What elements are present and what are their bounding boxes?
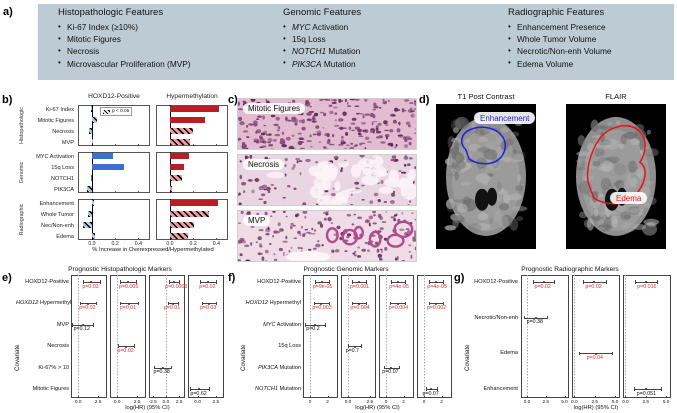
forest-ci-cap (134, 344, 135, 348)
b-row-label: PIK3CA (26, 187, 74, 193)
feature-list-item: Edema Volume (508, 58, 612, 70)
forest-ci-cap (612, 352, 613, 356)
forest-xticklabel: 5.0 (659, 399, 673, 404)
forest-row-label: Edema (466, 350, 518, 356)
forest-title: Prognostic Histopathologic Markers (14, 266, 226, 273)
b-group-label-2: Radiographic (19, 199, 25, 240)
mri-title-1: FLAIR (566, 92, 666, 101)
b-xtick (216, 238, 217, 240)
forest-ci-cap (635, 280, 636, 284)
forest-reference-line (574, 275, 575, 398)
b-bar (170, 164, 185, 170)
histology-label-0: Mitotic Figures (243, 103, 305, 114)
forest-xticklabel: 2.5 (91, 399, 105, 404)
mri-render (436, 104, 536, 249)
forest-xticklabel: 0.0 (341, 399, 355, 404)
forest-xticklabel: 0.0 (520, 399, 534, 404)
forest-ci-cap (554, 280, 555, 284)
forest-pvalue: p=0.003 (312, 305, 331, 311)
forest-xticklabel: 0.0 (191, 399, 205, 404)
forest-pvalue: p=0.7 (346, 348, 359, 354)
b-xtick (193, 144, 194, 146)
forest-subplot-1 (572, 275, 620, 398)
b-xtick (193, 191, 194, 193)
forest-reference-line (198, 275, 199, 398)
forest-ci-cap (100, 280, 101, 284)
b-bar (91, 175, 92, 181)
forest-pvalue: p=0.38 (527, 319, 543, 325)
forest-pvalue: p=0.62 (190, 391, 206, 397)
mri-roi-label-0: Enhancement (474, 112, 535, 124)
forest-xticklabel: 2.5 (363, 399, 377, 404)
forest-ylabel: Covariate (464, 344, 471, 370)
forest-subplot-0 (521, 275, 569, 398)
forest-row-label: 15q Loss (242, 343, 301, 349)
b-bar (88, 211, 91, 217)
b-bar (170, 153, 189, 159)
forest-pvalue: p=0.03 (82, 284, 98, 290)
panel-f-forest: Prognostic Genomic MarkersCovariateHOXD1… (240, 266, 452, 413)
mri-render (566, 104, 666, 249)
forest-xticklabel: 0.0 (159, 399, 173, 404)
forest-subplot-2 (623, 275, 671, 398)
b-bar (92, 139, 93, 145)
forest-row-label: Mitotic Figures (16, 386, 69, 392)
forest-row-label: PIK3CA Mutation (242, 365, 301, 371)
forest-pvalue: p=0.38 (154, 369, 170, 375)
forest-xticklabel: 0.0 (618, 399, 632, 404)
panel-e-forest: Prognostic Histopathologic MarkersCovari… (14, 266, 226, 413)
b-bar (89, 128, 92, 134)
forest-ci-cap (93, 323, 94, 327)
forest-pvalue: p=0.03 (200, 305, 216, 311)
b-bar (92, 233, 95, 239)
feature-list-item: Microvascular Proliferation (MVP) (58, 58, 191, 70)
b-bar (170, 200, 218, 206)
feature-list-item: MYC Activation (283, 21, 361, 33)
forest-xticklabel: 2 (397, 399, 411, 404)
feature-column-1: Genomic FeaturesMYC Activation15q LossNO… (283, 7, 361, 70)
forest-reference-line (386, 275, 387, 398)
b-bar (170, 211, 209, 217)
feature-list-item: Whole Tumor Volume (508, 33, 612, 45)
b-row-label: MYC Activation (26, 154, 74, 160)
b-xtick (115, 238, 116, 240)
b-group-label-0: Histopathologic (19, 105, 25, 146)
forest-pvalue: p=9e-05 (313, 284, 333, 290)
panel-b-barcharts: HOXD12-PositiveHypermethylationHistopath… (13, 92, 228, 260)
forest-reference-line (625, 275, 626, 398)
feature-column-title: Radiographic Features (508, 7, 612, 18)
b-group-label-1: Genomic (19, 152, 25, 193)
forest-reference-line (78, 275, 79, 398)
feature-list-item: Necrotic/Non-enh Volume (508, 45, 612, 57)
b-row-label: Edema (26, 234, 74, 240)
forest-pvalue: p=0.004 (389, 305, 408, 311)
forest-ci-cap (171, 366, 172, 370)
mri-roi-label-1: Edema (610, 192, 647, 204)
forest-pvalue: p=0.016 (637, 284, 656, 290)
forest-xticklabel: 2.5 (588, 399, 602, 404)
forest-reference-line (310, 275, 311, 398)
histology-image-2: MVP (237, 210, 417, 262)
forest-subplot-3 (188, 275, 224, 398)
forest-xticklabel: 2.5 (172, 399, 186, 404)
b-row-label: Ki-67 Index (26, 107, 74, 113)
forest-pvalue: p=4e-05 (427, 284, 447, 290)
forest-ci-cap (657, 280, 658, 284)
b-xtick (138, 144, 139, 146)
feature-column-0: Histopathologic FeaturesKi-67 Index (≥10… (58, 7, 191, 70)
panel-f-letter: f) (228, 272, 235, 284)
feature-list-item: Mitotic Figures (58, 33, 191, 45)
forest-pvalue: p=0.01 (120, 305, 136, 311)
forest-ci-cap (96, 302, 97, 306)
b-legend: p < 0.05 (100, 107, 132, 116)
forest-xticklabel: 2 (435, 399, 449, 404)
forest-pvalue: p=0.002 (427, 305, 446, 311)
b-row-label: Nec/Non-enh (26, 223, 74, 229)
b-row-label: 15q Loss (26, 165, 74, 171)
b-bar (92, 153, 113, 159)
forest-pvalue: p=0.12 (74, 326, 90, 332)
panel-b-letter: b) (2, 94, 12, 106)
b-bar (92, 200, 95, 206)
b-column-title-0: HOXD12-Positive (78, 93, 150, 100)
forest-pvalue: p=0.04 (587, 355, 603, 361)
forest-row-label: HOXD12 Hypermethyl (16, 300, 69, 306)
b-bar (170, 233, 188, 239)
feature-list-item: Necrosis (58, 45, 191, 57)
forest-xticklabel: 0 (417, 399, 431, 404)
b-bar (170, 222, 194, 228)
mri-image-1: Edema (566, 104, 666, 249)
forest-pvalue: p=0.001 (350, 284, 369, 290)
b-row-label: MVP (26, 140, 74, 146)
b-bar (91, 106, 92, 112)
panel-d-mri: T1 Post ContrastEnhancementFLAIREdema (428, 92, 674, 260)
forest-ci-cap (209, 387, 210, 391)
forest-subplot-3 (417, 275, 452, 398)
forest-subplot-2 (149, 275, 185, 398)
histology-image-0: Mitotic Figures (237, 98, 417, 150)
forest-reference-line (424, 275, 425, 398)
b-xtick (115, 191, 116, 193)
forest-row-label: HOXD12-Positive (16, 279, 69, 285)
histology-image-1: Necrosis (237, 154, 417, 206)
b-bar (170, 117, 205, 123)
forest-xticklabel: 0 (303, 399, 317, 404)
forest-xaxis-title: log(HR) (95% CI) (521, 405, 671, 411)
b-bar (170, 175, 182, 181)
forest-ci-cap (661, 387, 662, 391)
forest-ci-cap (216, 302, 217, 306)
forest-subplot-0 (71, 275, 107, 398)
forest-row-label: Necrosis (16, 343, 69, 349)
forest-ci-cap (138, 302, 139, 306)
forest-subplot-1 (341, 275, 376, 398)
b-xtick (193, 238, 194, 240)
b-xtick (216, 144, 217, 146)
forest-pvalue: p=0.02 (199, 284, 215, 290)
forest-subplot-1 (110, 275, 146, 398)
mri-title-0: T1 Post Contrast (436, 92, 536, 101)
forest-reference-line (117, 275, 118, 398)
forest-xticklabel: -2.5 (146, 399, 160, 404)
feature-list-item: NOTCH1 Mutation (283, 45, 361, 57)
b-xtick (138, 191, 139, 193)
b-bar (92, 117, 97, 123)
forest-row-label: NOTCH1 Mutation (242, 386, 301, 392)
forest-reference-line (527, 275, 528, 398)
forest-pvalue: p=0.02 (79, 305, 95, 311)
b-bar (170, 139, 190, 145)
forest-xaxis-title: log(HR) (95% CI) (71, 405, 224, 411)
forest-xticklabel: 2 (321, 399, 335, 404)
forest-subplot-2 (379, 275, 414, 398)
forest-pvalue: p=0.02 (535, 284, 551, 290)
forest-ci-cap (634, 387, 635, 391)
feature-list-item: Ki-67 Index (≥10%) (58, 21, 191, 33)
feature-column-2: Radiographic FeaturesEnhancement Presenc… (508, 7, 612, 70)
forest-pvalue: p=0.005 (119, 284, 138, 290)
b-xtick (138, 238, 139, 240)
forest-pvalue: p=0.02 (117, 348, 133, 354)
forest-row-label: Necrotic/Non-enh (466, 315, 518, 321)
panel-e-letter: e) (2, 272, 12, 284)
histology-label-2: MVP (243, 215, 270, 226)
forest-xticklabel: 2.5 (209, 399, 223, 404)
forest-row-label: MVP (16, 322, 69, 328)
feature-list: Enhancement PresenceWhole Tumor VolumeNe… (508, 21, 612, 70)
feature-list-item: Enhancement Presence (508, 21, 612, 33)
forest-ci-cap (579, 352, 580, 356)
forest-ci-cap (583, 280, 584, 284)
b-xtick (115, 144, 116, 146)
forest-reference-line (348, 275, 349, 398)
forest-xticklabel: 0.0 (110, 399, 124, 404)
histology-label-1: Necrosis (243, 159, 284, 170)
forest-pvalue: p=0.004 (350, 305, 369, 311)
b-row-label: Mitotic Figures (26, 118, 74, 124)
panel-a-letter: a) (3, 6, 13, 18)
feature-list-item: 15q Loss (283, 33, 361, 45)
b-row-label: Necrosis (26, 129, 74, 135)
forest-pvalue: p=0.0003 (165, 284, 187, 290)
feature-column-title: Genomic Features (283, 7, 361, 18)
b-subplot-2-0 (78, 199, 150, 240)
forest-xticklabel: 0.0 (567, 399, 581, 404)
forest-row-label: MYC Activation (242, 322, 301, 328)
forest-pvalue: p=0.02 (585, 284, 601, 290)
forest-subplot-0 (303, 275, 338, 398)
forest-pvalue: p=0.07 (382, 369, 398, 375)
forest-ci-cap (524, 316, 525, 320)
b-row-label: Enhancement (26, 201, 74, 207)
b-column-title-1: Hypermethylation (156, 93, 228, 100)
b-bar (170, 186, 172, 192)
forest-xticklabel: 0 (379, 399, 393, 404)
forest-title: Prognostic Genomic Markers (240, 266, 452, 273)
b-row-label: NOTCH1 (26, 176, 74, 182)
forest-ci-cap (216, 280, 217, 284)
b-row-label: Whole Tumor (26, 212, 74, 218)
forest-pvalue: p=0.01 (164, 305, 180, 311)
forest-row-label: HOXD12 Hypermethyl (242, 300, 301, 306)
forest-xticklabel: 0.0 (71, 399, 85, 404)
b-bar (170, 128, 193, 134)
b-xtick (216, 191, 217, 193)
b-xaxis-title: % Increase in Overexpressed/Hypermethyla… (78, 247, 228, 253)
forest-pvalue: p=0.07 (422, 391, 438, 397)
panel-g-forest: Prognostic Radiographic MarkersCovariate… (466, 266, 674, 413)
mri-image-0: Enhancement (436, 104, 536, 249)
forest-xaxis-title: log(HR) (95% CI) (303, 405, 452, 411)
b-legend-hatch-swatch (103, 110, 110, 114)
forest-row-label: Ki-67% > 10 (16, 365, 69, 371)
forest-pvalue: p=0.2 (306, 326, 319, 332)
b-bar (87, 186, 92, 192)
b-legend-label: p < 0.05 (112, 109, 129, 114)
b-subplot-1-1 (156, 152, 228, 193)
forest-ci-cap (325, 323, 326, 327)
forest-ci-cap (606, 280, 607, 284)
forest-ci-cap (547, 316, 548, 320)
feature-list: Ki-67 Index (≥10%)Mitotic FiguresNecrosi… (58, 21, 191, 70)
forest-row-label: HOXD12-Positive (242, 279, 301, 285)
forest-xticklabel: 2.5 (539, 399, 553, 404)
panel-c-histology: Mitotic FiguresNecrosisMVP (237, 92, 417, 260)
forest-xticklabel: 2.5 (639, 399, 653, 404)
forest-row-label: HOXD12-Positive (466, 279, 518, 285)
feature-column-title: Histopathologic Features (58, 7, 191, 18)
forest-title: Prognostic Radiographic Markers (466, 266, 674, 273)
feature-list-item: PIK3CA Mutation (283, 58, 361, 70)
b-bar (92, 164, 125, 170)
forest-row-label: Enhancement (466, 386, 518, 392)
forest-reference-line (166, 275, 167, 398)
forest-ci-cap (361, 344, 362, 348)
forest-pvalue: p=4e-05 (389, 284, 409, 290)
forest-xticklabel: 2.5 (130, 399, 144, 404)
b-bar (170, 106, 219, 112)
b-bar (83, 222, 92, 228)
panel-g-letter: g) (454, 272, 464, 284)
feature-list: MYC Activation15q LossNOTCH1 MutationPIK… (283, 21, 361, 70)
